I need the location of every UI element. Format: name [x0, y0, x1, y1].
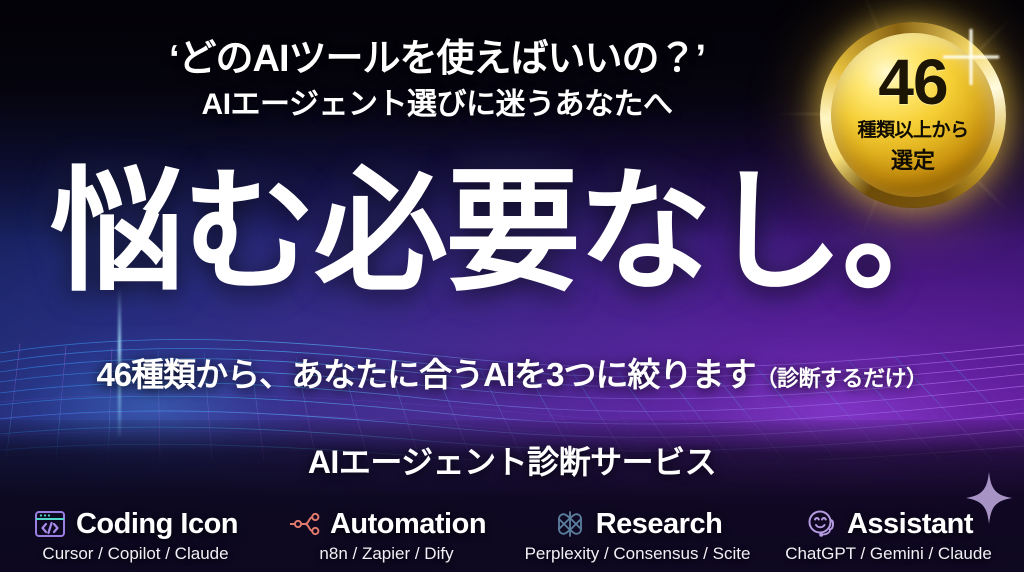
hero-subline-note: （診断するだけ） — [756, 366, 928, 391]
hero-kicker: ‘どのAIツールを使えばいいの？’ AIエージェント選びに迷うあなたへ — [0, 38, 1024, 123]
hero-subline: 46種類から、あなたに合うAIを3つに絞ります（診断するだけ） — [0, 348, 1024, 396]
category-tools: Cursor / Copilot / Claude — [42, 544, 228, 564]
hero-subline-main: 46種類から、あなたに合うAIを3つに絞ります — [96, 356, 755, 393]
category-item-assistant[interactable]: Assistant ChatGPT / Gemini / Claude — [763, 507, 1014, 564]
hero-kicker-line1: ‘どのAIツールを使えばいいの？’ — [0, 38, 874, 81]
category-tools: n8n / Zapier / Dify — [319, 544, 453, 564]
category-title: Automation — [330, 508, 486, 541]
node-graph-icon — [287, 507, 321, 541]
category-tools: ChatGPT / Gemini / Claude — [785, 544, 992, 564]
category-title: Research — [596, 508, 723, 541]
category-list: Coding Icon Cursor / Copilot / Claude — [0, 507, 1024, 564]
category-header: Assistant — [804, 507, 973, 541]
promo-banner: 46 種類以上から 選定 ‘どのAIツールを使えばいいの？’ AIエージェント選… — [0, 0, 1024, 572]
service-title: AIエージェント診断サービス — [0, 437, 1024, 483]
category-header: Coding Icon — [33, 507, 238, 541]
category-header: Automation — [287, 507, 486, 541]
category-item-research[interactable]: Research Perplexity / Consensus / Scite — [512, 507, 763, 564]
category-title: Assistant — [847, 508, 973, 541]
category-header: Research — [553, 507, 723, 541]
category-item-automation[interactable]: Automation n8n / Zapier / Dify — [261, 507, 512, 564]
hero-headline: 悩む必要なし。 — [0, 166, 1024, 300]
headset-smiley-icon — [804, 507, 838, 541]
category-tools: Perplexity / Consensus / Scite — [525, 544, 751, 564]
perplexity-star-icon — [553, 507, 587, 541]
category-item-coding[interactable]: Coding Icon Cursor / Copilot / Claude — [10, 507, 261, 564]
code-window-icon — [33, 507, 67, 541]
hero-kicker-line2: AIエージェント選びに迷うあなたへ — [0, 87, 874, 123]
category-title: Coding Icon — [76, 508, 238, 541]
